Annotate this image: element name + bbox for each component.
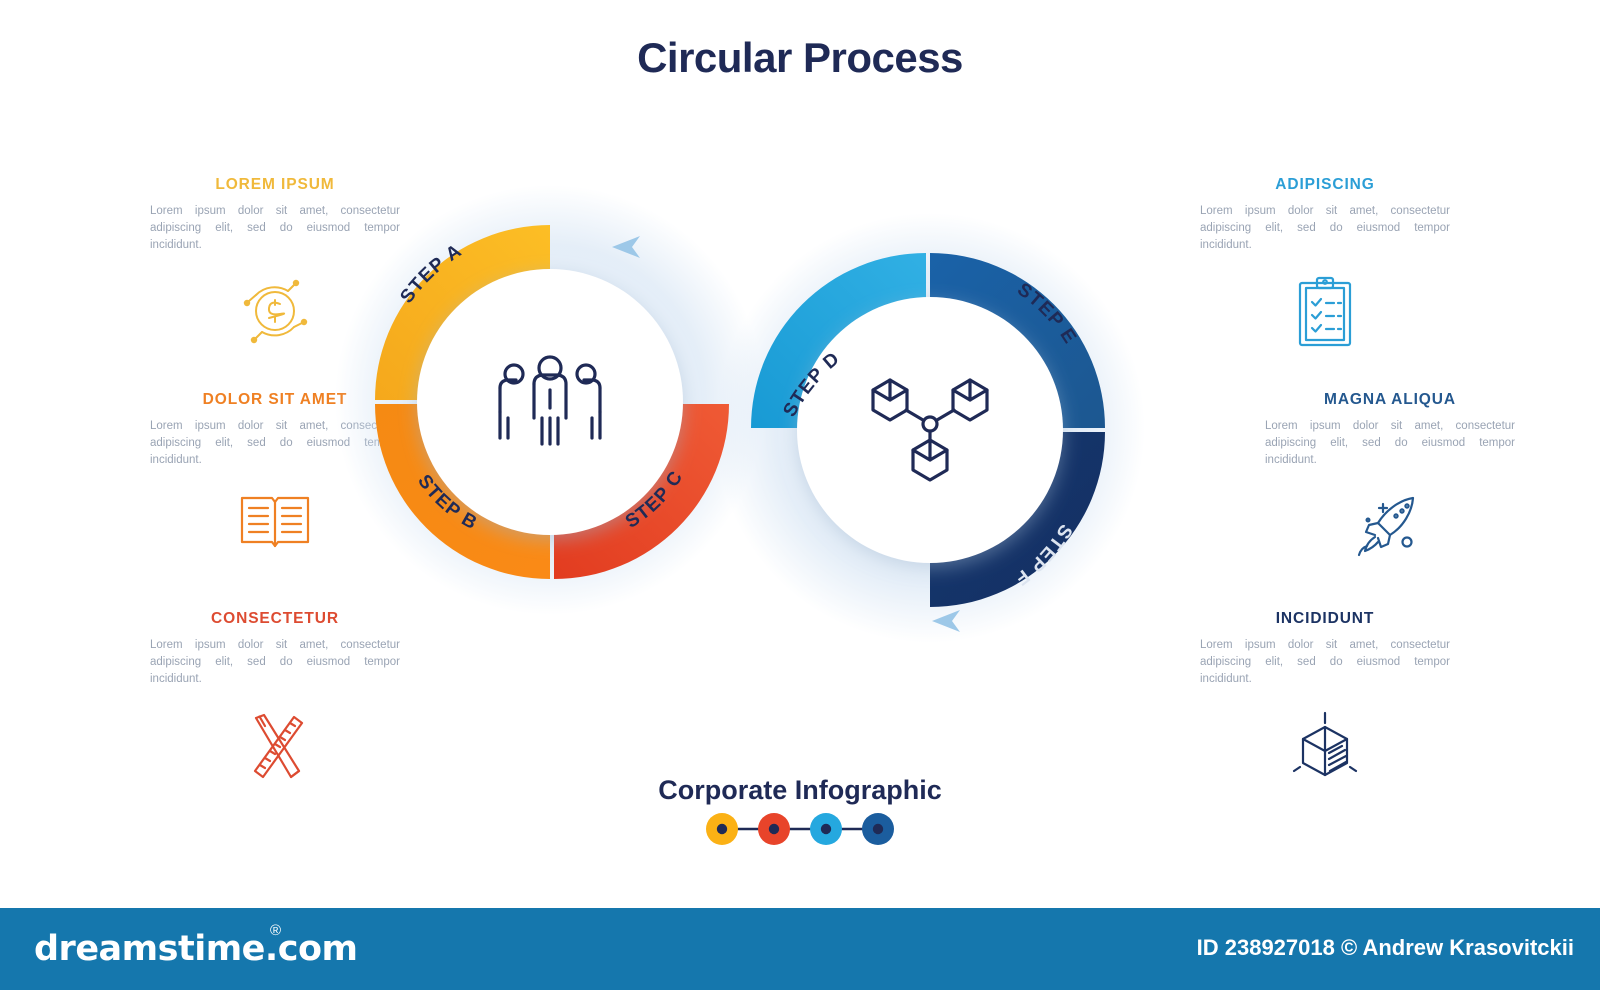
dreamstime-logo[interactable]: dreamstime.com	[34, 929, 357, 969]
registered-mark-icon: ®	[270, 922, 281, 939]
side-title-magna-aliqua: MAGNA ALIQUA	[1265, 391, 1515, 409]
side-block-magna-aliqua: MAGNA ALIQUA Lorem ipsum dolor sit amet,…	[1265, 391, 1515, 562]
infographic-canvas: Circular Process LOREM IPSUM Lorem ipsum…	[0, 0, 1600, 990]
image-credit: ID 238927018 © Andrew Krasovitckii	[1197, 935, 1574, 961]
cube-3d-icon	[1200, 709, 1450, 785]
rocket-icon	[1265, 490, 1515, 562]
page-title: Circular Process	[0, 34, 1600, 82]
footer-bar: dreamstime.com ® ID 238927018 © Andrew K…	[0, 908, 1600, 990]
bottom-caption: Corporate Infographic	[0, 775, 1600, 806]
legend-dots	[0, 812, 1600, 846]
side-body-magna-aliqua: Lorem ipsum dolor sit amet, consectetur …	[1265, 418, 1515, 468]
dot-lightblue[interactable]	[810, 813, 842, 845]
pencil-ruler-icon	[150, 709, 400, 785]
dot-blue[interactable]	[862, 813, 894, 845]
circular-process-diagram: STEP A STEP B STEP C	[300, 150, 1300, 715]
dot-yellow[interactable]	[706, 813, 738, 845]
dot-red[interactable]	[758, 813, 790, 845]
